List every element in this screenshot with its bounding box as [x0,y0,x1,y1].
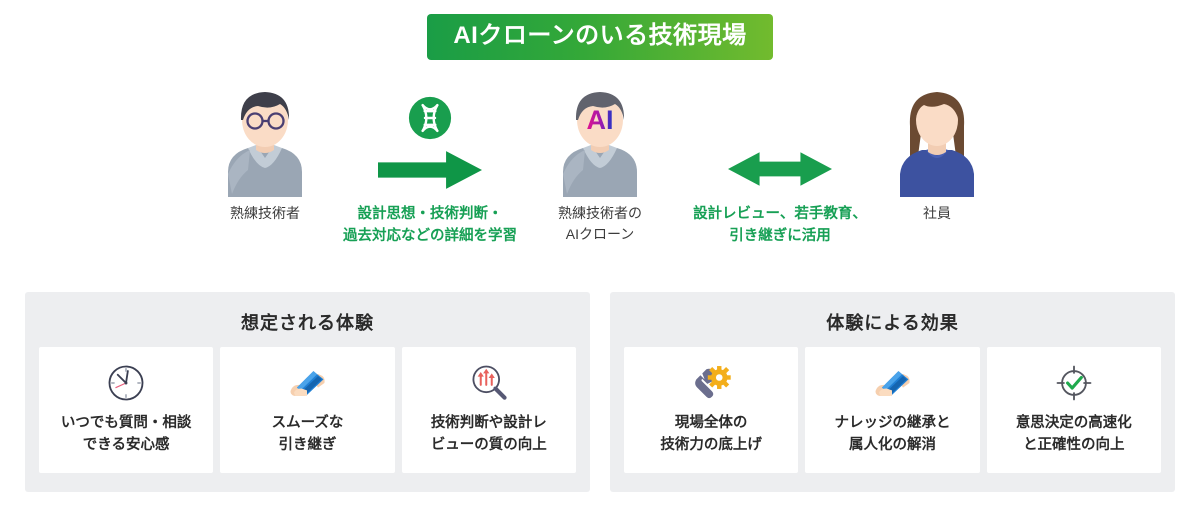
flow-node-label: 熟練技術者 [210,203,320,224]
flow-connector-caption-line1: 設計レビュー、若手教育、 [670,203,890,225]
flow-connector-caption-line1: 設計思想・技術判断・ [322,203,538,225]
flow-node-employee: 社員 [882,82,992,224]
title-bar: AIクローンのいる技術現場 [0,14,1200,60]
ai-clone-avatar-icon: AI [545,82,655,197]
card-knowledge-succession[interactable]: ナレッジの継承と 属人化の解消 [805,347,979,473]
panel-resulting-effects: 体験による効果 [610,292,1175,492]
card-label: 技術判断や設計レ ビューの質の向上 [431,413,547,457]
card-label: いつでも質問・相談 できる安心感 [61,413,192,457]
card-label: 現場全体の 技術力の底上げ [660,413,762,457]
book-handoff-icon [870,359,914,407]
card-anytime-consultation[interactable]: いつでも質問・相談 できる安心感 [39,347,213,473]
card-label: ナレッジの継承と 属人化の解消 [834,413,950,457]
arrow-right-icon [322,150,538,195]
flow-connector-utilization: 設計レビュー、若手教育、 引き継ぎに活用 [670,150,890,248]
flow-diagram: 熟練技術者 設計思想・技術判断・ 過去対応 [0,82,1200,277]
svg-text:AI: AI [587,105,614,135]
magnifier-arrows-icon [467,359,511,407]
card-faster-decisions[interactable]: 意思決定の高速化 と正確性の向上 [987,347,1161,473]
panel-cards: 現場全体の 技術力の底上げ ナレッジの継承と 属人化の解消 [624,347,1161,473]
employee-avatar-icon [882,82,992,197]
flow-node-label-line1: 熟練技術者の [545,203,655,224]
panel-title: 体験による効果 [624,302,1161,347]
wrench-gear-icon [689,359,733,407]
flow-node-veteran-engineer: 熟練技術者 [210,82,320,224]
panel-expected-experience: 想定される体験 [25,292,590,492]
flow-node-label-line2: AIクローン [545,224,655,245]
card-label: 意思決定の高速化 と正確性の向上 [1016,413,1132,457]
page-title: AIクローンのいる技術現場 [427,14,772,60]
card-review-quality[interactable]: 技術判断や設計レ ビューの質の向上 [402,347,576,473]
target-check-icon [1052,359,1096,407]
flow-node-label: 社員 [882,203,992,224]
panels-row: 想定される体験 [0,292,1200,492]
flow-connector-caption-line2: 引き継ぎに活用 [670,225,890,247]
clock-icon [104,359,148,407]
panel-title: 想定される体験 [39,302,576,347]
card-overall-skill-uplift[interactable]: 現場全体の 技術力の底上げ [624,347,798,473]
dna-helix-icon [322,96,538,144]
book-handoff-icon [285,359,329,407]
flow-connector-learning: 設計思想・技術判断・ 過去対応などの詳細を学習 [322,96,538,248]
arrow-left-right-icon [670,150,890,193]
card-smooth-handover[interactable]: スムーズな 引き継ぎ [220,347,394,473]
flow-connector-caption-line2: 過去対応などの詳細を学習 [322,225,538,247]
flow-node-ai-clone: AI 熟練技術者の AIクローン [545,82,655,245]
veteran-engineer-avatar-icon [210,82,320,197]
card-label: スムーズな 引き継ぎ [272,413,344,457]
panel-cards: いつでも質問・相談 できる安心感 スムーズな 引き継ぎ [39,347,576,473]
